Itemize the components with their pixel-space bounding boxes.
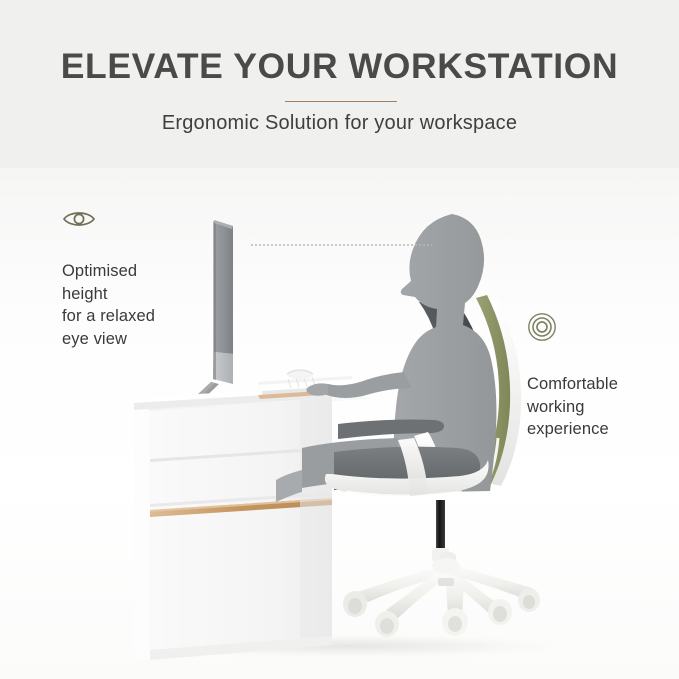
- cabinet-left-face: [134, 410, 150, 660]
- eye-icon: [62, 208, 96, 230]
- leader-line: [250, 244, 432, 246]
- desk: [134, 386, 372, 660]
- infographic-canvas: ELEVATE YOUR WORKSTATION Ergonomic Solut…: [0, 0, 679, 679]
- annotation-optimised-height: Optimised height for a relaxed eye view: [62, 208, 155, 350]
- chair-gas-cylinder: [436, 500, 445, 552]
- annotation-comfortable-working: Comfortable working experience: [527, 312, 618, 441]
- concentric-rings-icon: [527, 312, 557, 342]
- annotation-label: Optimised height for a relaxed eye view: [62, 260, 155, 350]
- annotation-label: Comfortable working experience: [527, 373, 618, 441]
